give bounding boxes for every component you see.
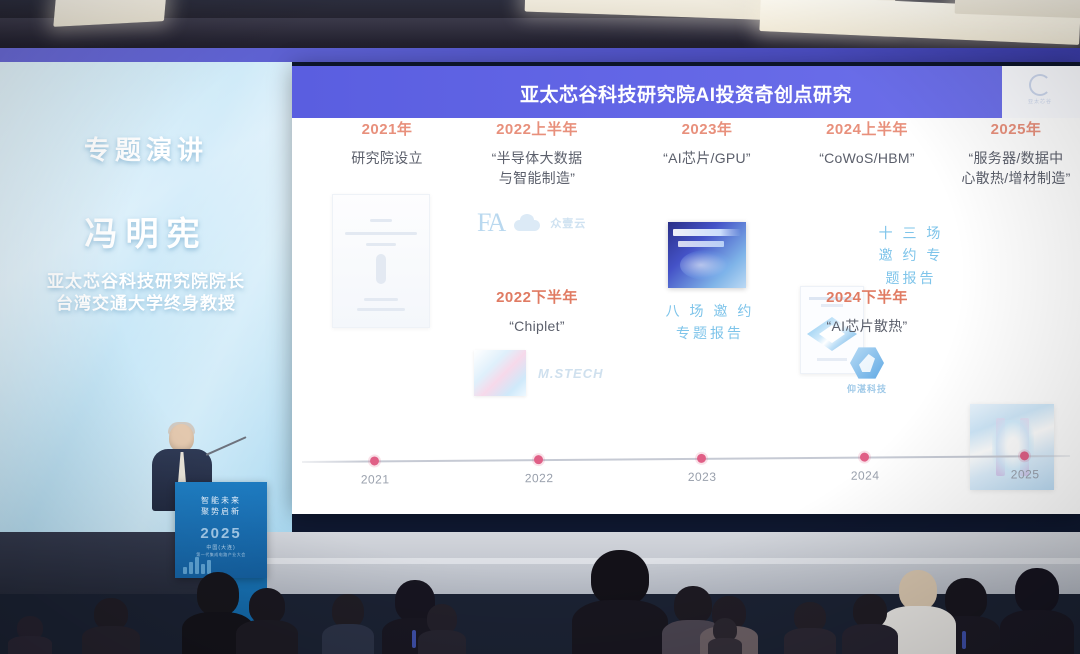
timeline-column-2023: 2023年 “AI芯片/GPU”: [632, 118, 782, 168]
zhongyiyun-logo-text: 众壹云: [550, 215, 586, 231]
doc-graphic: [376, 254, 386, 284]
mstech-logo-text: M.STECH: [538, 366, 604, 381]
year-label-2024h1: 2024上半年: [782, 118, 952, 139]
timeline-dot-2023: [697, 454, 706, 463]
book-glow-graphic: [680, 250, 732, 280]
year-desc-2022h1-line1: “半导体大数据: [452, 148, 622, 168]
timeline-column-2022h2: 2022下半年 “Chiplet”: [452, 286, 622, 336]
lanyard: [962, 631, 966, 649]
audience-person: [784, 606, 836, 654]
year-desc-2024h1: “CoWoS/HBM”: [782, 148, 952, 168]
mstech-logo-image: [474, 350, 526, 396]
institute-logo-icon: 亚太芯谷: [1014, 74, 1066, 105]
logo-row-2022h1: FA 众壹云: [477, 208, 586, 238]
speaker-name: 冯明宪: [0, 207, 292, 255]
year-desc-2024h2: “AI芯片散热”: [782, 316, 952, 336]
timeline-column-2021: 2021年 研究院设立: [312, 118, 462, 168]
timeline-dot-2022: [534, 455, 543, 464]
year-desc-2025-line2: 心散热/增材制造”: [952, 168, 1080, 188]
year-desc-2022h1-line2: 与智能制造”: [452, 168, 622, 188]
doc-line: [345, 232, 417, 235]
audience-person: [418, 610, 466, 654]
timeline-label-2024: 2024: [851, 468, 880, 482]
timeline-dot-2025: [1020, 451, 1029, 460]
doc-line: [364, 298, 398, 301]
timeline-dot-2024: [860, 453, 869, 462]
speaker-head: [169, 424, 194, 452]
logo-row-2022h2: M.STECH: [474, 350, 604, 396]
speaker-intro-panel: 专题演讲 冯明宪 亚太芯谷科技研究院院长 台湾交通大学终身教授: [0, 130, 292, 316]
audience-person: [322, 596, 374, 654]
thumb-white-report-document: [332, 194, 430, 328]
conference-photo-scene: 专题演讲 冯明宪 亚太芯谷科技研究院院长 台湾交通大学终身教授 亚太芯谷科技研究…: [0, 0, 1080, 654]
yangzhan-logo-text: 仰湛科技: [832, 382, 902, 395]
year-label-2021: 2021年: [312, 118, 462, 139]
year-desc-2022h2: “Chiplet”: [452, 316, 622, 336]
speaker-role-line1: 亚太芯谷科技研究院院长: [0, 271, 292, 293]
blue-note-2023-line2: 专题报告: [650, 322, 770, 344]
blue-note-2024: 十 三 场 邀 约 专 题报告: [870, 222, 952, 289]
timeline-label-2022: 2022: [525, 471, 554, 485]
lanyard: [412, 630, 416, 648]
year-label-2024h2: 2024下半年: [782, 286, 952, 307]
year-label-2023: 2023年: [632, 118, 782, 139]
year-label-2022h1: 2022上半年: [452, 118, 622, 139]
logo-ring-shape: [1029, 74, 1051, 96]
podium-line2: 聚势启新: [175, 506, 267, 517]
ceiling: [0, 0, 1080, 62]
timeline-label-2023: 2023: [688, 470, 717, 484]
cloud-icon: [514, 215, 540, 231]
podium-year: 2025: [175, 525, 267, 542]
audience-person: [842, 598, 898, 654]
fa-logo: FA: [477, 208, 504, 238]
timeline-dot-2021: [370, 456, 379, 465]
year-desc-2021: 研究院设立: [312, 148, 462, 168]
book-subtitle-band: [678, 241, 724, 247]
audience-person: [572, 560, 668, 654]
audience-person: [1000, 574, 1074, 654]
timeline-label-2025: 2025: [1011, 467, 1040, 481]
year-label-2022h2: 2022下半年: [452, 286, 622, 307]
blue-note-2024-line2: 邀 约 专: [870, 244, 952, 266]
slide-header-bar: 亚太芯谷科技研究院AI投资奇创点研究 亚太芯谷: [292, 66, 1080, 118]
logo-row-2024h2: 仰湛科技: [832, 346, 902, 395]
slide-title: 亚太芯谷科技研究院AI投资奇创点研究: [292, 80, 1080, 107]
audience-person: [236, 592, 298, 654]
book-title-band: [673, 229, 741, 236]
year-desc-2025-line1: “服务器/数据中: [952, 148, 1080, 168]
year-label-2025: 2025年: [952, 118, 1080, 139]
audience-person: [708, 620, 742, 654]
year-desc-2023: “AI芯片/GPU”: [632, 148, 782, 168]
blue-note-2023: 八 场 邀 约 专题报告: [650, 300, 770, 345]
timeline-column-2022: 2022上半年 “半导体大数据 与智能制造”: [452, 118, 622, 189]
timeline-label-2021: 2021: [361, 472, 390, 486]
timeline-column-2024: 2024上半年 “CoWoS/HBM”: [782, 118, 952, 168]
speaker-role: 亚太芯谷科技研究院院长 台湾交通大学终身教授: [0, 271, 292, 316]
topic-label: 专题演讲: [0, 130, 292, 167]
podium-line3: 中国(大连): [175, 544, 267, 551]
doc-line: [357, 308, 405, 311]
blue-note-2024-line1: 十 三 场: [870, 222, 952, 244]
doc-line: [370, 219, 392, 222]
timeline-column-2025: 2025年 “服务器/数据中 心散热/增材制造”: [952, 118, 1080, 189]
slide-header-logo-area: 亚太芯谷: [1002, 66, 1080, 118]
blue-note-2023-line1: 八 场 邀 约: [650, 300, 770, 322]
doc-line: [366, 243, 396, 246]
logo-caption: 亚太芯谷: [1014, 98, 1066, 105]
yangzhan-hex-logo-icon: [850, 346, 884, 380]
slide-body: 2021年 研究院设立 2022上半年 “半导体大数据 与智能制造”: [292, 118, 1080, 514]
timeline-column-2024h2: 2024下半年 “AI芯片散热”: [782, 286, 952, 336]
speaker-role-line2: 台湾交通大学终身教授: [0, 293, 292, 315]
audience-person: [8, 620, 52, 654]
thumb-ai-chip-book-cover: [668, 222, 746, 288]
audience-row: [0, 560, 1080, 654]
podium-line1: 智能未来: [175, 495, 267, 506]
ceiling-blue-beam: [0, 48, 1080, 62]
audience-person: [82, 602, 140, 654]
projection-slide: 亚太芯谷科技研究院AI投资奇创点研究 亚太芯谷 2021年 研究院设立: [292, 66, 1080, 514]
timeline-axis: 2021 2022 2023 2024 2025: [302, 455, 1070, 463]
